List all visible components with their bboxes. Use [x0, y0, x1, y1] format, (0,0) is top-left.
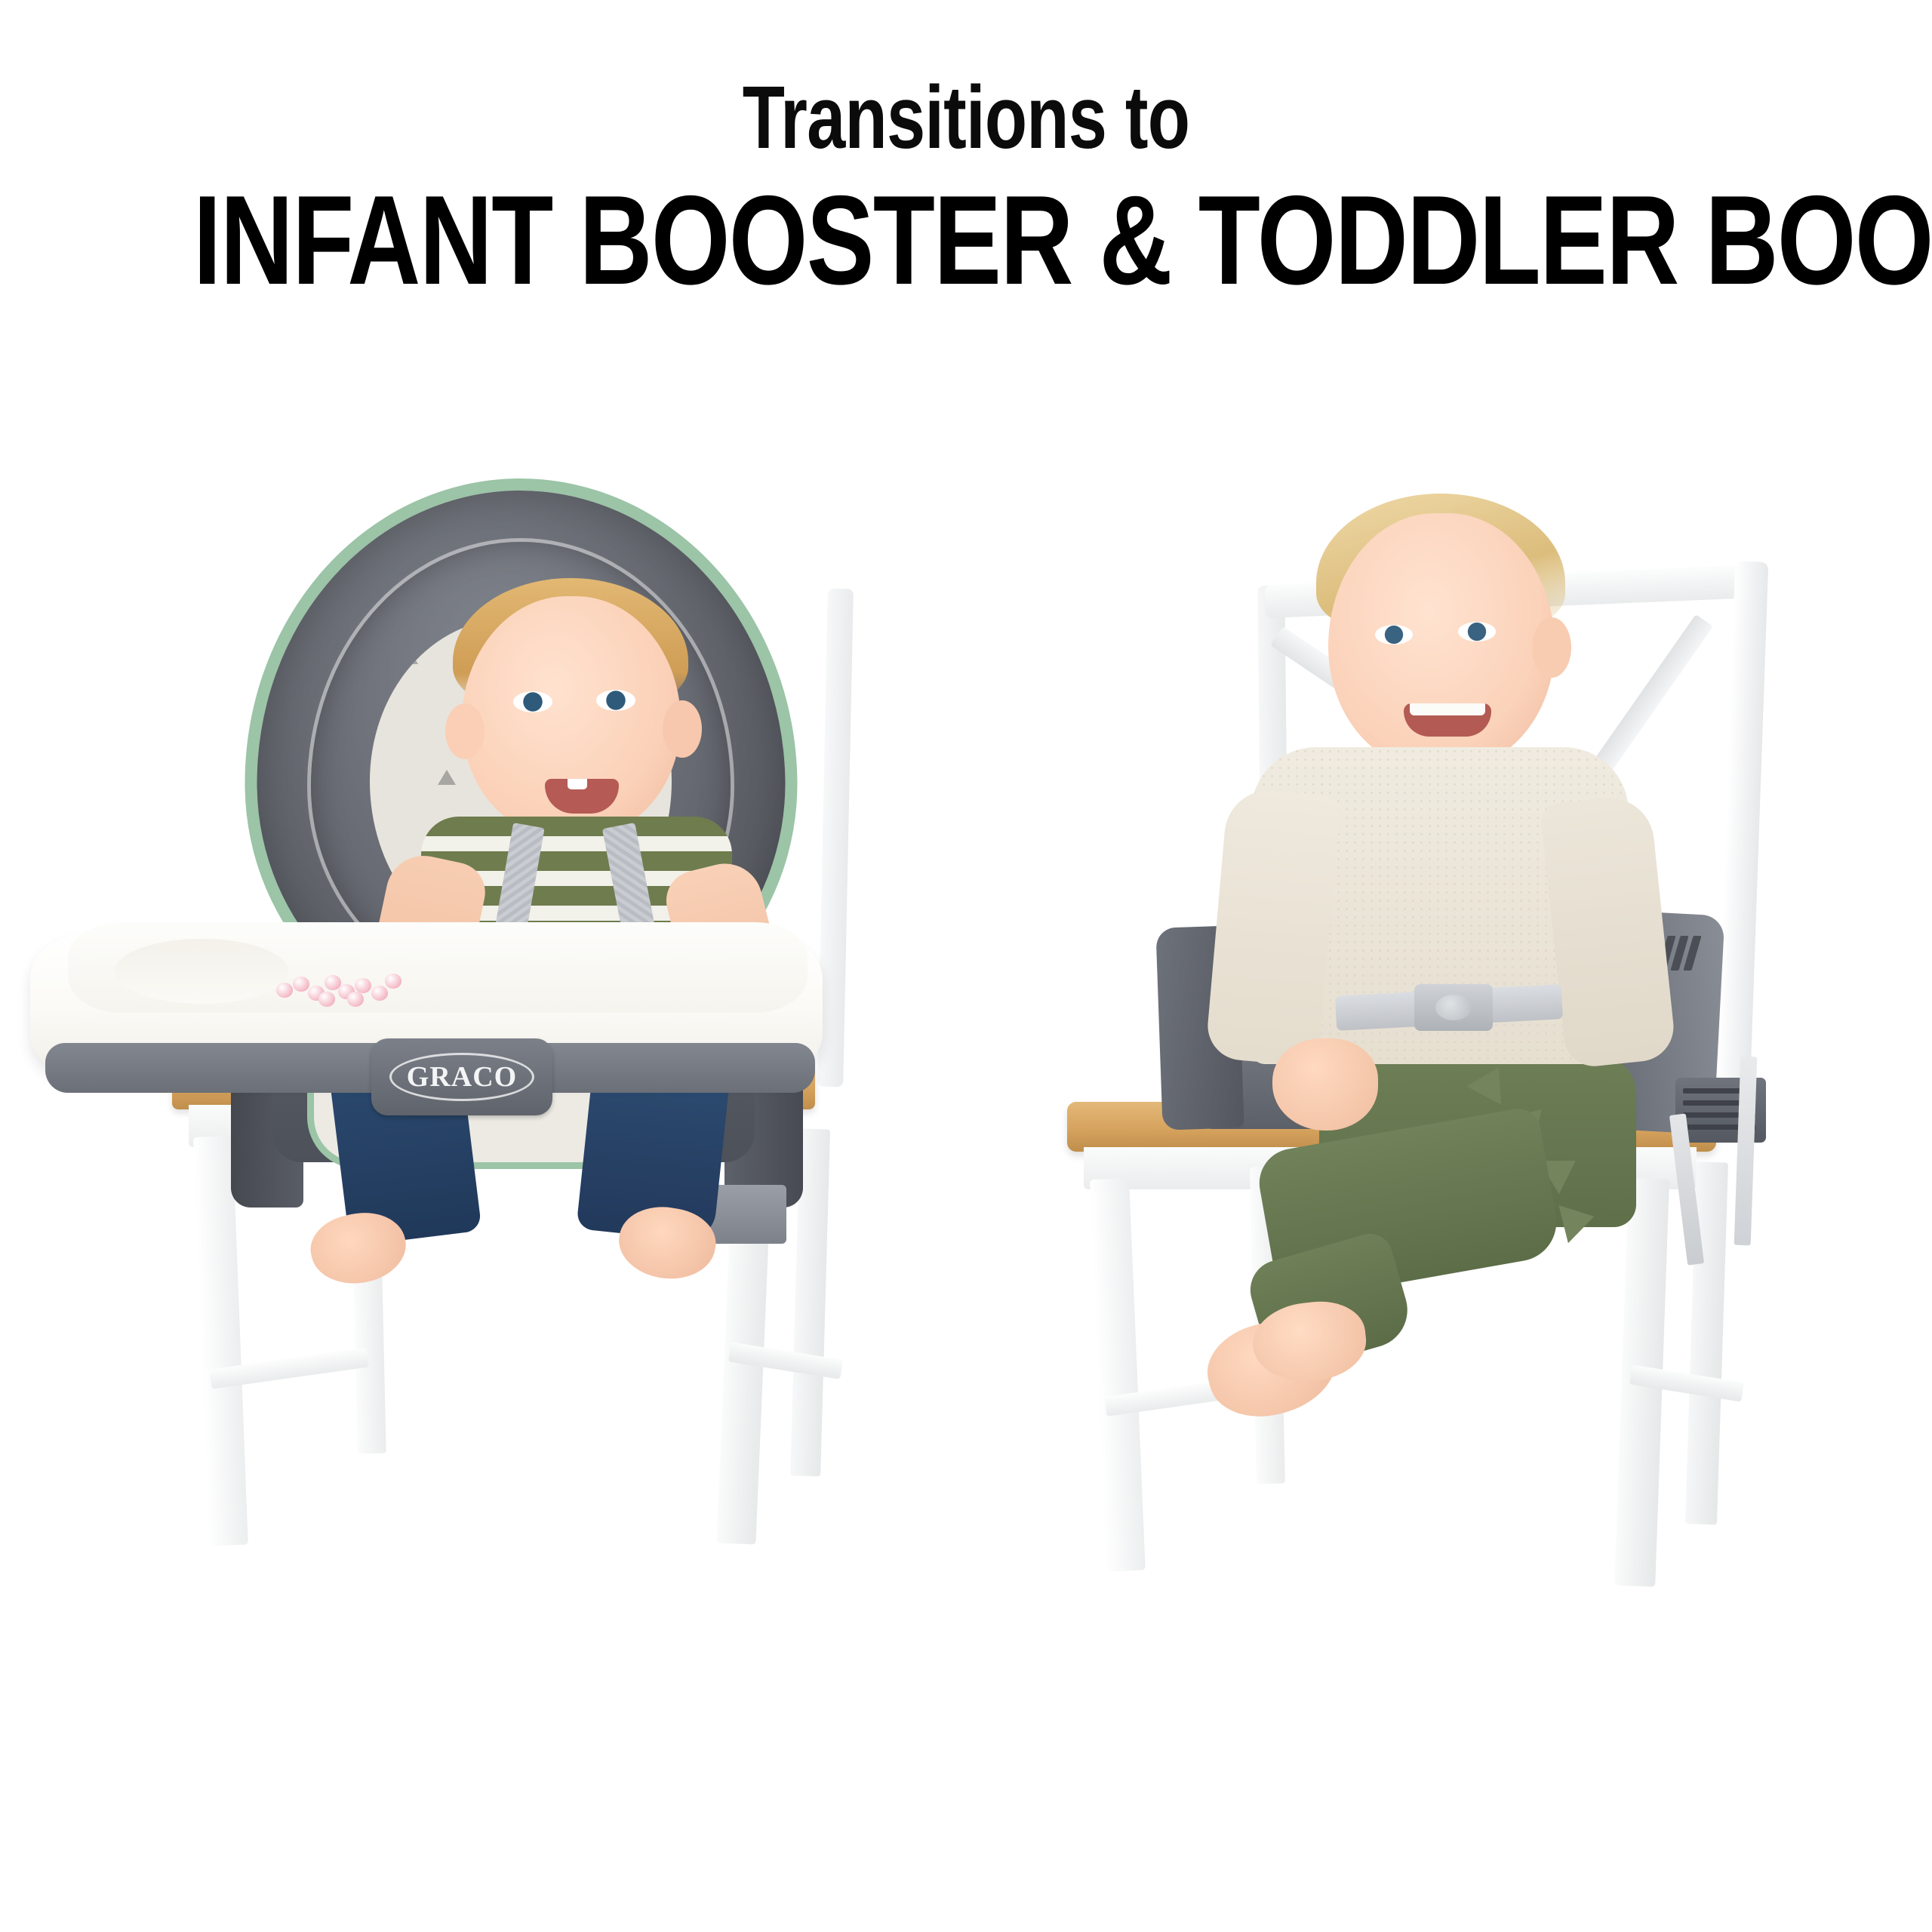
baby-ear-right	[663, 700, 702, 758]
panel-infant-booster: GRACO	[45, 483, 951, 1932]
product-lifestyle-image: Transitions to INFANT BOOSTER & TODDLER …	[0, 0, 1932, 1932]
product-scene: GRACO	[0, 483, 1932, 1932]
graco-logo-oval: GRACO	[389, 1053, 534, 1101]
graco-logo-badge: GRACO	[371, 1038, 552, 1115]
baby-eye-left	[513, 691, 552, 712]
chair-back-post-right	[1715, 561, 1768, 1135]
chair-back-post-right	[817, 589, 854, 1088]
toddler-eye-right	[1458, 622, 1496, 641]
baby-tooth	[568, 779, 587, 789]
toddler-eye-left	[1375, 625, 1413, 645]
tray-cup-well	[115, 939, 288, 1004]
headline-block: Transitions to INFANT BOOSTER & TODDLER …	[0, 72, 1932, 303]
belt-buckle	[1414, 984, 1493, 1031]
snack-pieces	[272, 972, 415, 1002]
chair-leg-front-left	[1090, 1178, 1146, 1572]
toddler-hands	[1272, 1038, 1378, 1131]
brand-wordmark: GRACO	[407, 1060, 517, 1094]
toddler-ear-right	[1532, 617, 1571, 678]
baby-eye-right	[596, 690, 635, 711]
headline-line-2: INFANT BOOSTER & TODDLER BOOSTER	[193, 177, 1739, 303]
headline-line-1: Transitions to	[213, 72, 1720, 163]
toddler-teeth	[1410, 703, 1485, 715]
toddler-arm-left	[1205, 786, 1342, 1067]
baby-ear-left	[445, 703, 485, 759]
toddler-mouth	[1404, 703, 1491, 737]
panel-toddler-booster	[1011, 483, 1902, 1932]
